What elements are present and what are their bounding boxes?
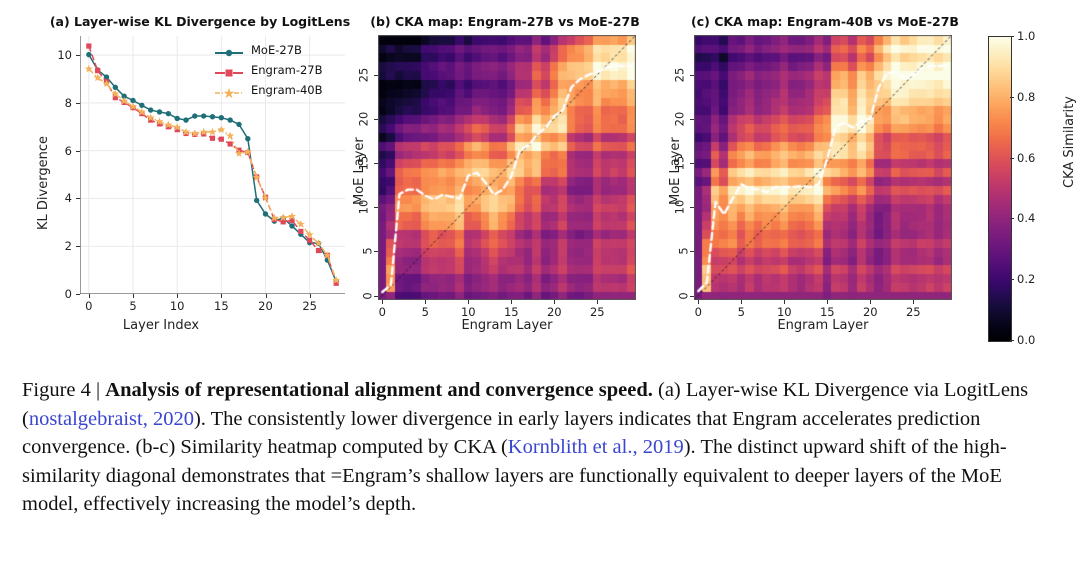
c-xtick: 15 (820, 305, 835, 319)
colorbar-tick: 0.4 (1017, 211, 1035, 225)
panel-a-xtick-mark (133, 294, 134, 298)
citation-nostalgebraist[interactable]: nostalgebraist, 2020 (29, 408, 194, 430)
panel-b-heatmap (378, 35, 636, 300)
b-xtick: 0 (379, 305, 386, 319)
c-xtick: 0 (695, 305, 702, 319)
c-ytick-mark (690, 296, 694, 297)
figure-label: Figure 4 | (22, 379, 100, 401)
b-xtick-mark (554, 300, 555, 304)
c-xtick: 20 (863, 305, 878, 319)
legend-item-engram-27b: Engram-27B (214, 60, 346, 80)
b-ytick: 5 (360, 248, 374, 255)
colorbar-tick-mark (1010, 36, 1014, 37)
colorbar-tick-mark (1010, 340, 1014, 341)
legend-label-moe-27b: MoE-27B (251, 43, 302, 57)
b-xtick-mark (511, 300, 512, 304)
legend-item-engram-40b: Engram-40B (214, 80, 346, 100)
legend-key-engram-40b (214, 84, 244, 96)
c-ytick: 15 (673, 156, 687, 171)
colorbar (988, 36, 1012, 342)
b-xtick: 5 (422, 305, 429, 319)
colorbar-label: CKA Similarity (1062, 96, 1077, 188)
panel-a-xtick: 25 (302, 299, 317, 313)
b-xtick: 15 (504, 305, 519, 319)
panel-a-ytick: 6 (65, 144, 72, 158)
b-ytick: 0 (360, 292, 374, 299)
legend-item-moe-27b: MoE-27B (214, 40, 346, 60)
colorbar-tick-mark (1010, 279, 1014, 280)
b-ytick-mark (374, 75, 378, 76)
legend-key-moe-27b (214, 44, 244, 56)
c-ytick: 0 (676, 292, 690, 299)
colorbar-tick: 0.0 (1017, 333, 1035, 347)
panel-a-xtick-mark (310, 294, 311, 298)
panel-a-ytick-mark (76, 198, 80, 199)
figure-caption: Figure 4 | Analysis of representational … (22, 376, 1062, 519)
panel-a-ytick: 0 (65, 287, 72, 301)
b-ytick: 20 (357, 112, 371, 127)
panel-a-title: (a) Layer-wise KL Divergence by LogitLen… (40, 14, 360, 29)
panel-b-ylabel: MoE Layer (352, 137, 367, 205)
c-xtick-mark (784, 300, 785, 304)
b-ytick-mark (374, 251, 378, 252)
panel-c-xlabel: Engram Layer (777, 318, 868, 333)
panel-a-ytick-mark (76, 151, 80, 152)
panel-a-xtick-mark (177, 294, 178, 298)
panel-a-ytick: 8 (65, 96, 72, 110)
panel-c-title: (c) CKA map: Engram-40B vs MoE-27B (665, 14, 985, 29)
b-xtick-mark (425, 300, 426, 304)
b-xtick: 25 (590, 305, 605, 319)
c-xtick-mark (913, 300, 914, 304)
panel-a-xtick: 10 (170, 299, 185, 313)
c-xtick: 25 (906, 305, 921, 319)
c-xtick: 5 (738, 305, 745, 319)
panel-a-ytick-mark (76, 294, 80, 295)
panel-b-xlabel: Engram Layer (461, 318, 552, 333)
panel-a-xtick: 5 (129, 299, 136, 313)
colorbar-tick: 0.6 (1017, 151, 1035, 165)
panel-a-ytick-mark (76, 103, 80, 104)
panel-a-ytick-mark (76, 246, 80, 247)
colorbar-tick: 0.2 (1017, 272, 1035, 286)
b-ytick-mark (374, 296, 378, 297)
c-ytick-mark (690, 207, 694, 208)
colorbar-tick-mark (1010, 97, 1014, 98)
c-xtick-mark (741, 300, 742, 304)
panel-c-ylabel: MoE Layer (668, 137, 683, 205)
panel-a-xtick: 15 (214, 299, 229, 313)
b-ytick: 25 (357, 67, 371, 82)
c-xtick-mark (870, 300, 871, 304)
panel-a-ytick: 2 (65, 239, 72, 253)
b-ytick-mark (374, 207, 378, 208)
panel-a-legend: MoE-27B Engram-27B Engram-40B (214, 40, 346, 100)
citation-kornblith[interactable]: Kornblith et al., 2019 (508, 436, 684, 458)
panel-a-xtick-mark (89, 294, 90, 298)
c-ytick: 25 (673, 67, 687, 82)
b-ytick: 15 (357, 156, 371, 171)
b-xtick-mark (468, 300, 469, 304)
c-ytick: 10 (673, 200, 687, 215)
c-ytick: 5 (676, 248, 690, 255)
panel-a-xtick: 20 (258, 299, 273, 313)
b-ytick-mark (374, 163, 378, 164)
panel-a-ylabel: KL Divergence (36, 136, 51, 230)
panel-a-ytick: 10 (57, 48, 72, 62)
b-xtick: 10 (461, 305, 476, 319)
colorbar-tick-mark (1010, 158, 1014, 159)
c-xtick-mark (698, 300, 699, 304)
c-xtick: 10 (777, 305, 792, 319)
panel-a-xtick-mark (221, 294, 222, 298)
colorbar-tick: 1.0 (1017, 29, 1035, 43)
b-xtick-mark (382, 300, 383, 304)
c-ytick-mark (690, 119, 694, 120)
c-ytick: 20 (673, 112, 687, 127)
b-ytick-mark (374, 119, 378, 120)
c-ytick-mark (690, 75, 694, 76)
c-xtick-mark (827, 300, 828, 304)
legend-label-engram-27b: Engram-27B (251, 63, 323, 77)
panel-a-xtick-mark (266, 294, 267, 298)
panel-a-ytick: 4 (65, 191, 72, 205)
c-ytick-mark (690, 251, 694, 252)
figure-page: (a) Layer-wise KL Divergence by LogitLen… (0, 0, 1080, 575)
panel-c-heatmap (694, 35, 952, 300)
c-ytick-mark (690, 163, 694, 164)
colorbar-tick: 0.8 (1017, 90, 1035, 104)
b-xtick: 20 (547, 305, 562, 319)
panel-a-xtick: 0 (85, 299, 92, 313)
b-xtick-mark (597, 300, 598, 304)
legend-key-engram-27b (214, 64, 244, 76)
panel-b-title: (b) CKA map: Engram-27B vs MoE-27B (345, 14, 665, 29)
caption-bold: Analysis of representational alignment a… (105, 379, 653, 401)
panel-a-xlabel: Layer Index (123, 318, 199, 333)
colorbar-tick-mark (1010, 218, 1014, 219)
b-ytick: 10 (357, 200, 371, 215)
panel-a-ytick-mark (76, 55, 80, 56)
legend-label-engram-40b: Engram-40B (251, 83, 323, 97)
